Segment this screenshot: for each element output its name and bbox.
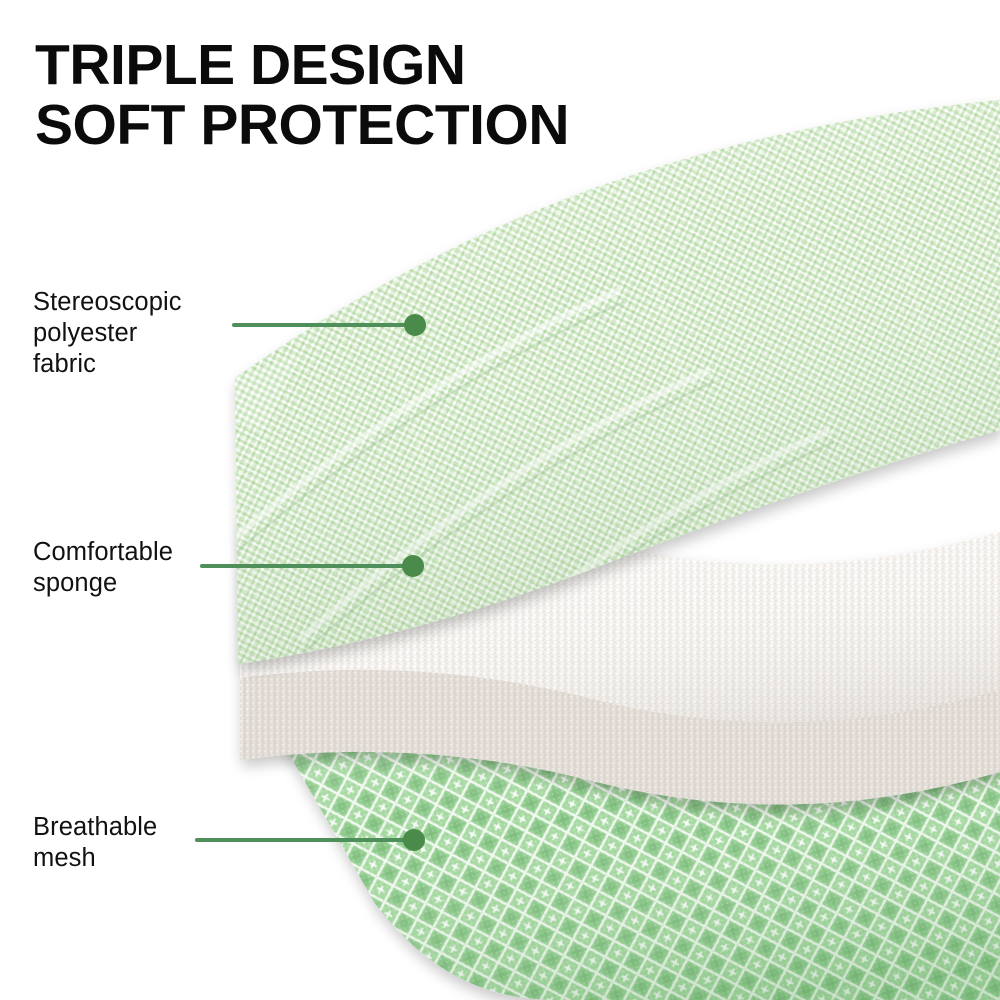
leader-dot-3 <box>403 829 425 851</box>
callout-label-comfortable-sponge: Comfortable sponge <box>33 537 173 599</box>
callout-label-breathable-mesh: Breathable mesh <box>33 812 157 874</box>
title-line-1: TRIPLE DESIGN <box>35 36 569 96</box>
page-title: TRIPLE DESIGN SOFT PROTECTION <box>35 36 569 156</box>
leader-line-1 <box>232 323 414 327</box>
leader-line-2 <box>200 564 412 568</box>
callout-label-stereoscopic-polyester-fabric: Stereoscopic polyester fabric <box>33 287 182 380</box>
leader-dot-2 <box>402 555 424 577</box>
infographic-canvas: TRIPLE DESIGN SOFT PROTECTION <box>0 0 1000 1000</box>
title-line-2: SOFT PROTECTION <box>35 96 569 156</box>
leader-line-3 <box>195 838 413 842</box>
leader-dot-1 <box>404 314 426 336</box>
